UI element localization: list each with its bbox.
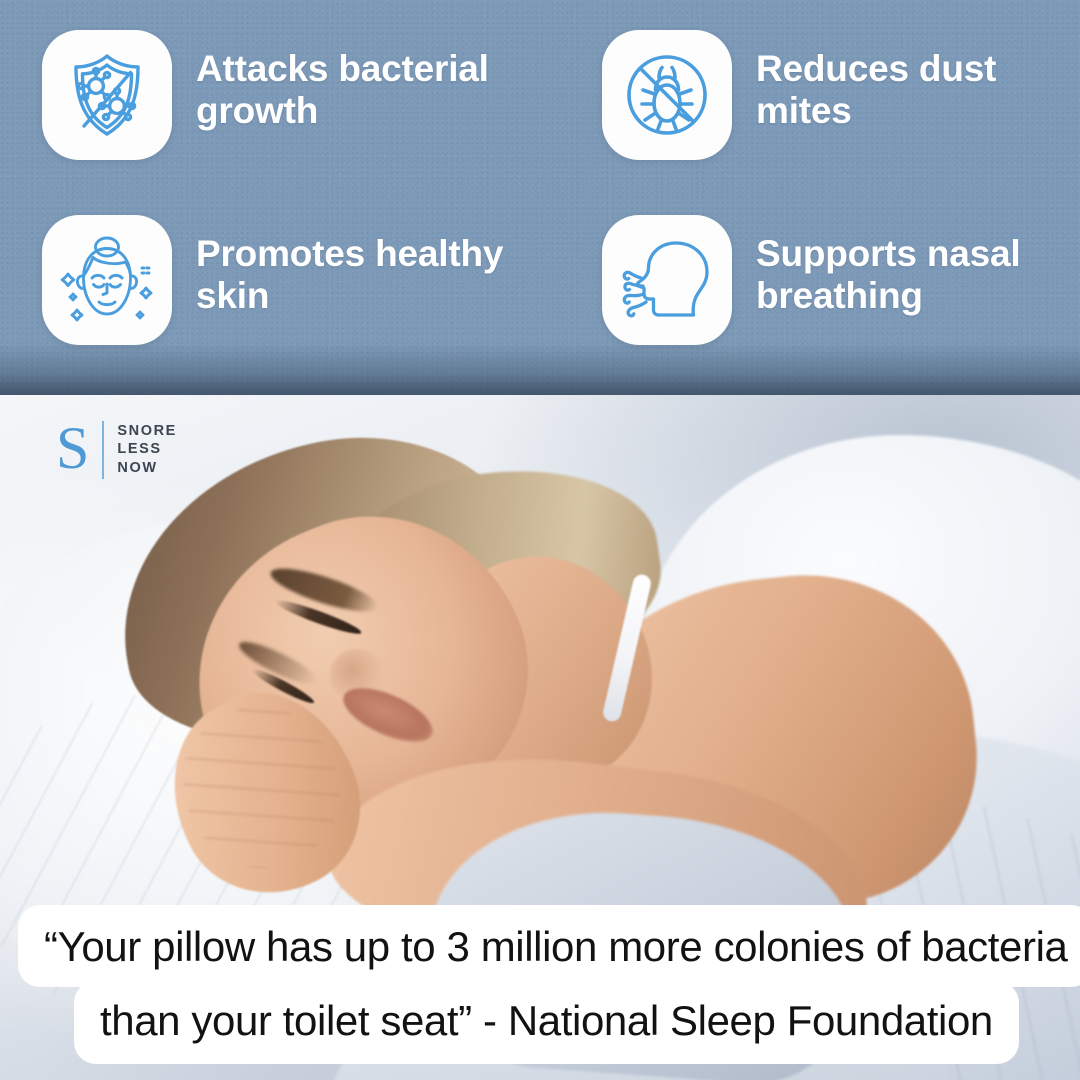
ad-creative: Attacks bacterial growth bbox=[0, 0, 1080, 1080]
head-breathing-icon bbox=[619, 232, 715, 328]
icon-card-no-bug bbox=[602, 30, 732, 160]
feature-item-promotes-healthy-skin: Promotes healthy skin bbox=[42, 215, 602, 395]
no-bug-icon bbox=[621, 49, 713, 141]
logo-word-3: NOW bbox=[117, 461, 177, 476]
feature-label: Promotes healthy skin bbox=[196, 233, 546, 317]
feature-label: Reduces dust mites bbox=[756, 48, 1080, 132]
features-grid: Attacks bacterial growth bbox=[0, 0, 1080, 395]
features-panel: Attacks bacterial growth bbox=[0, 0, 1080, 395]
feature-item-supports-nasal-breathing: Supports nasal breathing bbox=[602, 215, 1080, 395]
shield-bacteria-icon bbox=[61, 49, 153, 141]
logo-wordmark: SNORE LESS NOW bbox=[117, 424, 177, 476]
icon-card-face bbox=[42, 215, 172, 345]
icon-card-breathing bbox=[602, 215, 732, 345]
brand-logo[interactable]: S SNORE LESS NOW bbox=[56, 421, 177, 479]
logo-word-2: LESS bbox=[117, 442, 177, 457]
feature-item-reduces-dust-mites: Reduces dust mites bbox=[602, 30, 1080, 215]
face-sparkle-icon bbox=[59, 232, 155, 328]
quote-banner: “Your pillow has up to 3 million more co… bbox=[0, 905, 1080, 1080]
quote-line-1: “Your pillow has up to 3 million more co… bbox=[18, 905, 1080, 987]
logo-word-1: SNORE bbox=[117, 424, 177, 439]
feature-item-attacks-bacterial-growth: Attacks bacterial growth bbox=[42, 30, 602, 215]
feature-label: Supports nasal breathing bbox=[756, 233, 1080, 317]
icon-card-shield bbox=[42, 30, 172, 160]
logo-monogram: S bbox=[56, 418, 89, 478]
feature-label: Attacks bacterial growth bbox=[196, 48, 546, 132]
logo-divider bbox=[102, 421, 104, 479]
quote-line-2: than your toilet seat” - National Sleep … bbox=[74, 981, 1019, 1064]
